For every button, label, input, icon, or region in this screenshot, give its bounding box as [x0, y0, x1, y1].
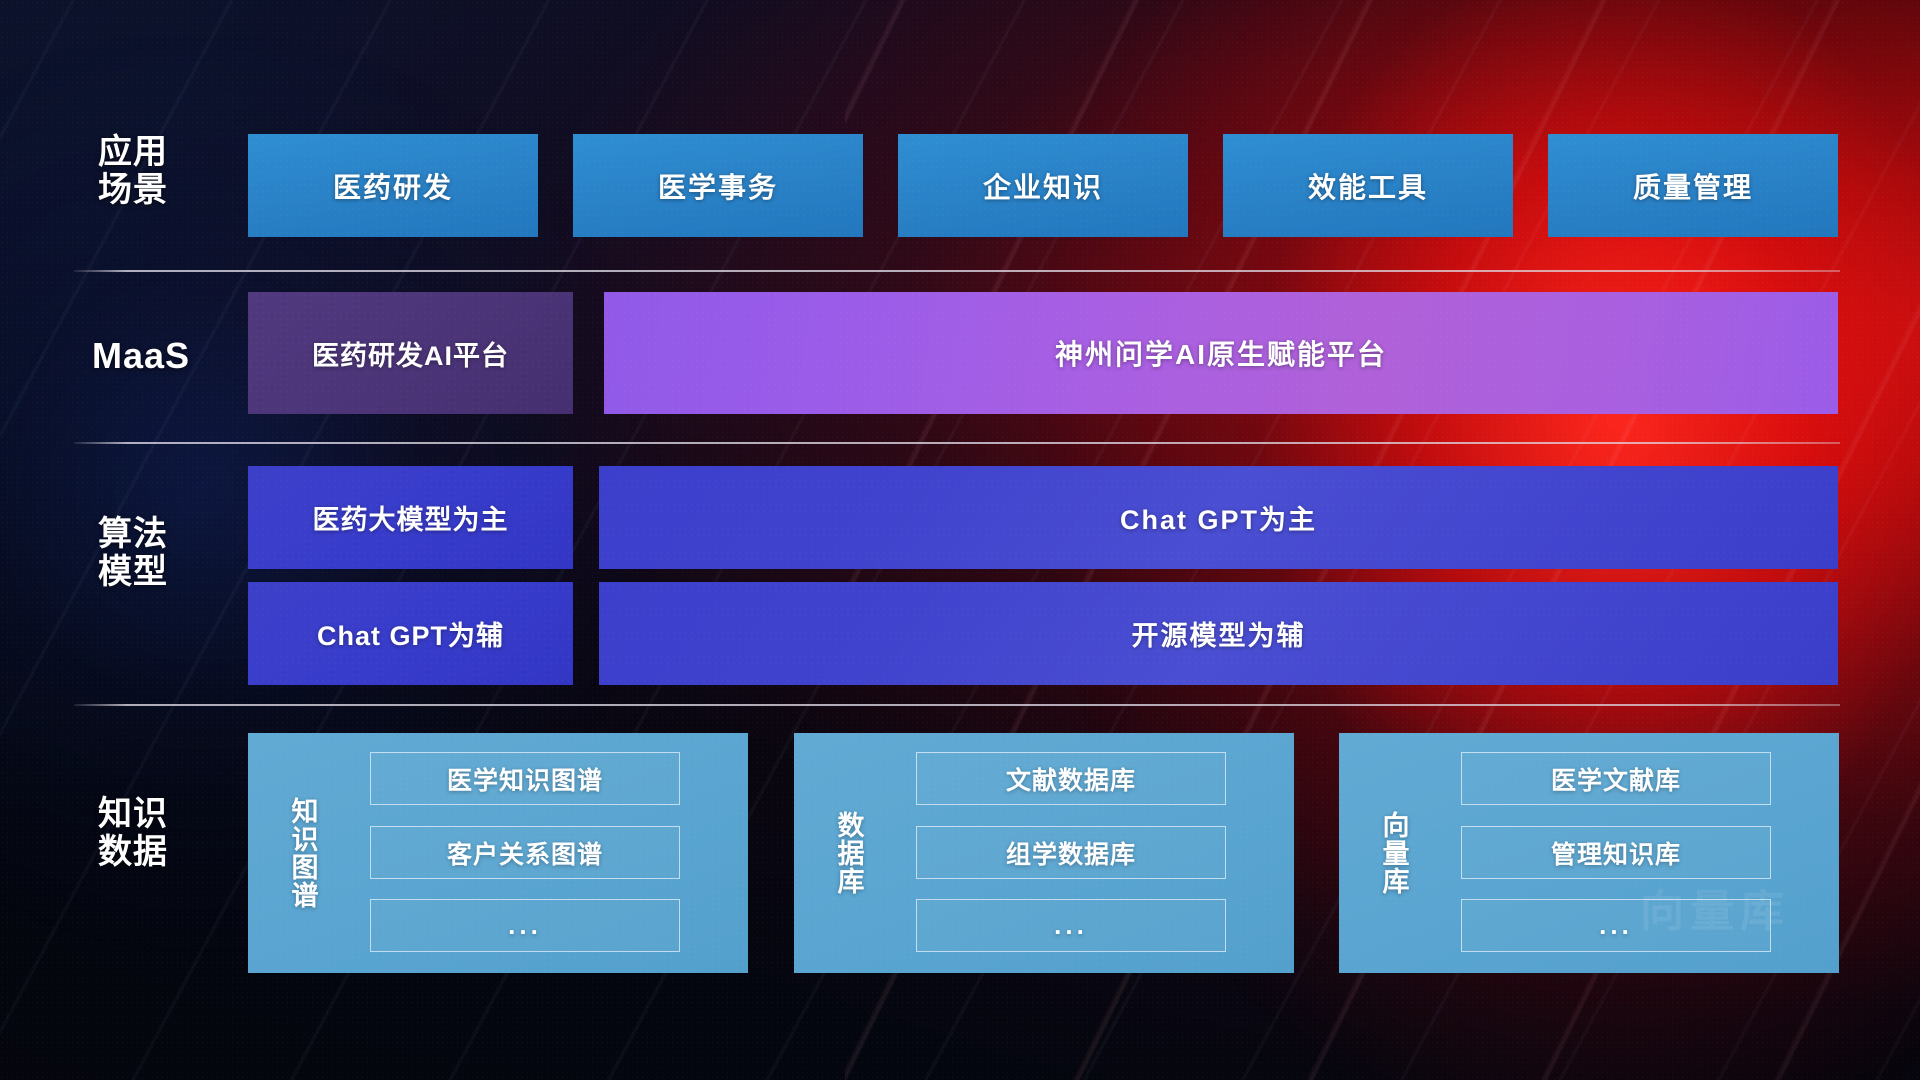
algorithm-cell-opensource-secondary[interactable]: 开源模型为辅 [599, 582, 1838, 685]
cell-label: 医药研发 [333, 166, 453, 206]
knowledge-panel-label-knowledge-graph: 知识图谱 [280, 750, 324, 956]
knowledge-panel-label-database: 数据库 [826, 762, 870, 944]
cell-label: 医药大模型为主 [313, 498, 509, 537]
algorithm-cell-medicine-llm-primary[interactable]: 医药大模型为主 [248, 466, 573, 569]
app-scenario-cell-enterprise-knowledge[interactable]: 企业知识 [898, 134, 1188, 237]
algorithm-cell-chatgpt-primary[interactable]: Chat GPT为主 [599, 466, 1838, 569]
knowledge-item-medical-knowledge-graph[interactable]: 医学知识图谱 [370, 752, 680, 805]
row-label-knowledge-data: 知识 数据 [98, 795, 258, 871]
divider-row-2 [74, 442, 1840, 444]
maas-cell-medicine-rnd-ai-platform[interactable]: 医药研发AI平台 [248, 292, 573, 414]
cell-label: 医药研发AI平台 [312, 334, 509, 373]
divider-row-3 [74, 704, 1840, 706]
knowledge-item-more-database[interactable]: ... [916, 899, 1226, 952]
cell-label: 医学事务 [658, 166, 778, 206]
row-label-application-scenarios: 应用 场景 [98, 133, 248, 209]
row-label-algorithm-model: 算法 模型 [98, 515, 258, 591]
cell-label: 质量管理 [1633, 166, 1753, 206]
knowledge-item-customer-relation-graph[interactable]: 客户关系图谱 [370, 826, 680, 879]
divider-row-1 [74, 270, 1840, 272]
app-scenario-cell-quality-management[interactable]: 质量管理 [1548, 134, 1838, 237]
maas-cell-shenzhou-wenxue-platform[interactable]: 神州问学AI原生赋能平台 [604, 292, 1838, 414]
knowledge-item-medical-literature-store[interactable]: 医学文献库 [1461, 752, 1771, 805]
app-scenario-cell-efficiency-tools[interactable]: 效能工具 [1223, 134, 1513, 237]
cell-label: 神州问学AI原生赋能平台 [1055, 333, 1387, 373]
knowledge-item-more-vector[interactable]: ... [1461, 899, 1771, 952]
knowledge-item-omics-database[interactable]: 组学数据库 [916, 826, 1226, 879]
algorithm-cell-chatgpt-secondary[interactable]: Chat GPT为辅 [248, 582, 573, 685]
knowledge-item-literature-database[interactable]: 文献数据库 [916, 752, 1226, 805]
knowledge-item-management-knowledge-store[interactable]: 管理知识库 [1461, 826, 1771, 879]
cell-label: 开源模型为辅 [1132, 614, 1306, 653]
app-scenario-cell-medical-affairs[interactable]: 医学事务 [573, 134, 863, 237]
slide-canvas: 应用 场景 医药研发 医学事务 企业知识 效能工具 质量管理 MaaS 医药研发… [0, 0, 1920, 1080]
cell-label: Chat GPT为主 [1120, 498, 1317, 537]
cell-label: Chat GPT为辅 [317, 614, 504, 653]
cell-label: 企业知识 [983, 166, 1103, 206]
knowledge-item-more-graph[interactable]: ... [370, 899, 680, 952]
knowledge-panel-label-vector-store: 向量库 [1371, 762, 1415, 944]
app-scenario-cell-medicine-rnd[interactable]: 医药研发 [248, 134, 538, 237]
cell-label: 效能工具 [1308, 166, 1428, 206]
